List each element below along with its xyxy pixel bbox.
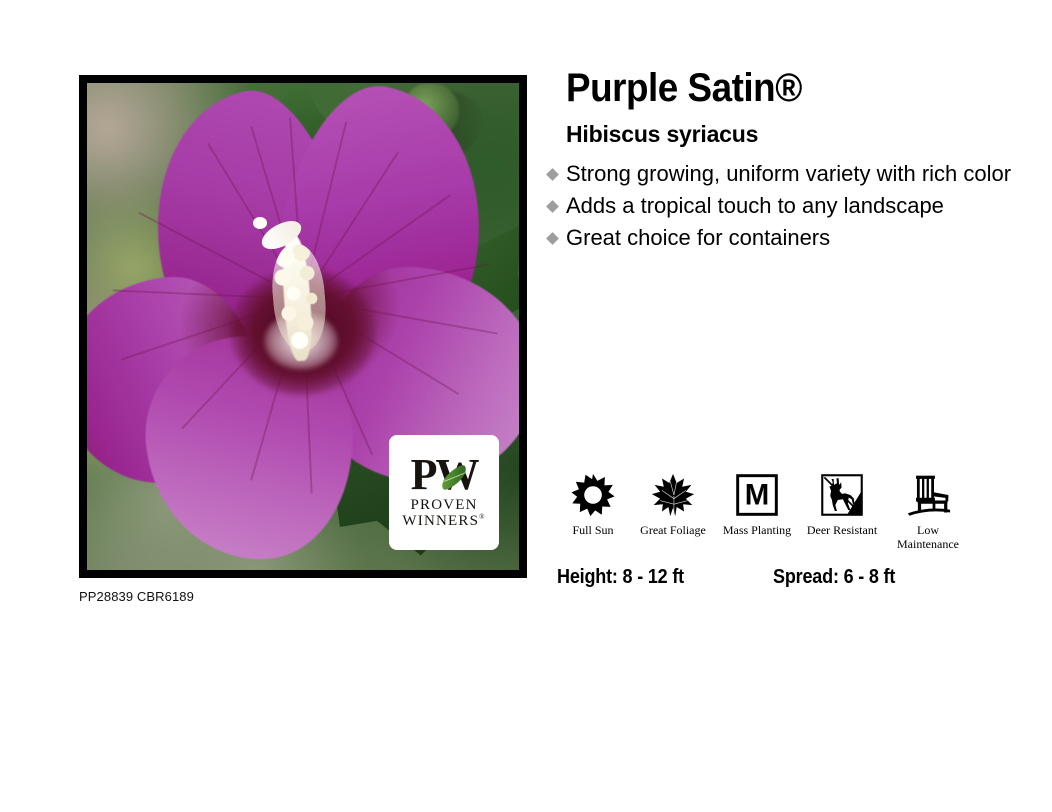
- pw-monogram: PW: [411, 454, 478, 496]
- list-item: Great choice for containers: [548, 223, 1018, 253]
- plant-patent-code: PP28839 CBR6189: [79, 589, 194, 604]
- attribute-label: Deer Resistant: [807, 523, 877, 537]
- attribute-label: Full Sun: [572, 523, 613, 537]
- hibiscus-photo: PW PROVEN WINNERS®: [87, 83, 519, 570]
- attribute-icon-row: Full Sun Great Foliage M Mass Planting: [556, 470, 976, 551]
- diamond-bullet-icon: [546, 232, 559, 245]
- spread-text: Spread: 6 - 8 ft: [773, 566, 895, 589]
- mass-planting-icon: M: [736, 470, 778, 520]
- proven-winners-logo: PW PROVEN WINNERS®: [389, 435, 499, 549]
- deer-resistant-icon-svg: [821, 474, 863, 516]
- pw-monogram-text: PW: [411, 450, 478, 499]
- full-sun-icon: [571, 470, 615, 520]
- list-item: Strong growing, uniform variety with ric…: [548, 159, 1018, 189]
- attribute-mass-planting: M Mass Planting: [716, 470, 798, 537]
- diamond-bullet-icon: [546, 200, 559, 213]
- attribute-label: Mass Planting: [723, 523, 791, 537]
- full-sun-icon-svg: [571, 473, 615, 517]
- info-column: Purple Satin® Hibiscus syriacus Strong g…: [548, 68, 1018, 269]
- height-text: Height: 8 - 12 ft: [557, 566, 684, 589]
- pw-word-winners-text: WINNERS: [402, 513, 479, 529]
- list-item-label: Great choice for containers: [566, 225, 830, 250]
- attribute-full-sun: Full Sun: [556, 470, 630, 537]
- diamond-bullet-icon: [546, 168, 559, 181]
- mass-planting-icon-svg: M: [736, 474, 778, 516]
- page-title: Purple Satin®: [566, 68, 982, 108]
- attribute-great-foliage: Great Foliage: [630, 470, 716, 537]
- maple-leaf-icon-svg: [650, 472, 696, 518]
- list-item-label: Strong growing, uniform variety with ric…: [566, 161, 1011, 186]
- mass-planting-letter: M: [745, 479, 769, 512]
- botanical-name: Hibiscus syriacus: [566, 121, 1018, 148]
- attribute-label: Great Foliage: [640, 523, 706, 537]
- photo-frame: PW PROVEN WINNERS®: [79, 75, 527, 578]
- list-item-label: Adds a tropical touch to any landscape: [566, 193, 944, 218]
- attribute-low-maintenance: Low Maintenance: [886, 470, 970, 551]
- plant-photo-block: PW PROVEN WINNERS®: [79, 75, 527, 578]
- low-maintenance-icon: [905, 470, 951, 520]
- deer-resistant-icon: [821, 470, 863, 520]
- rocking-chair-icon-svg: [905, 472, 951, 518]
- attribute-label: Low Maintenance: [897, 523, 959, 551]
- attribute-deer-resistant: Deer Resistant: [798, 470, 886, 537]
- great-foliage-icon: [650, 470, 696, 520]
- list-item: Adds a tropical touch to any landscape: [548, 191, 1018, 221]
- registered-mark: ®: [479, 513, 486, 521]
- stigma-tip: [253, 217, 267, 229]
- pw-word-winners: WINNERS®: [402, 513, 485, 530]
- feature-list: Strong growing, uniform variety with ric…: [548, 159, 1018, 253]
